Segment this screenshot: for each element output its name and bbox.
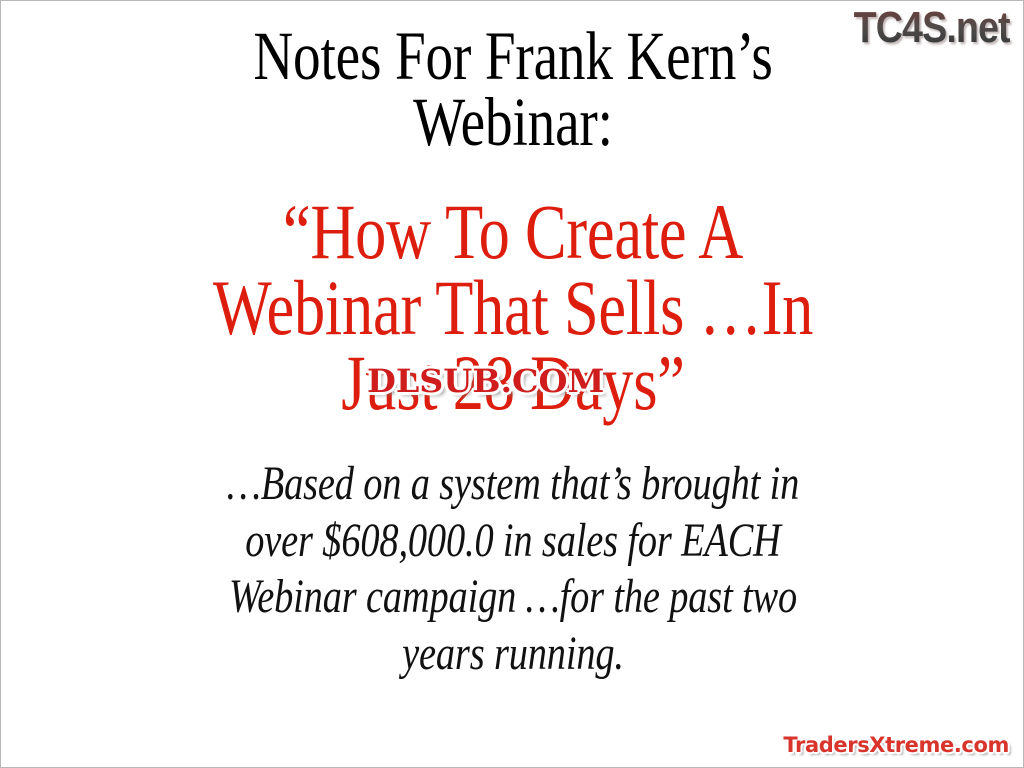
page-title: Notes For Frank Kern’s Webinar: (103, 23, 922, 155)
watermark-dlsub: DLSUB.COM (367, 362, 604, 400)
slide-canvas: Notes For Frank Kern’s Webinar: “How To … (0, 0, 1024, 768)
subheading-description: …Based on a system that’s brought in ove… (103, 456, 922, 683)
watermark-tc4s: TC4S.net (854, 3, 1010, 53)
watermark-tradersxtreme: TradersXtreme.com (783, 733, 1009, 757)
